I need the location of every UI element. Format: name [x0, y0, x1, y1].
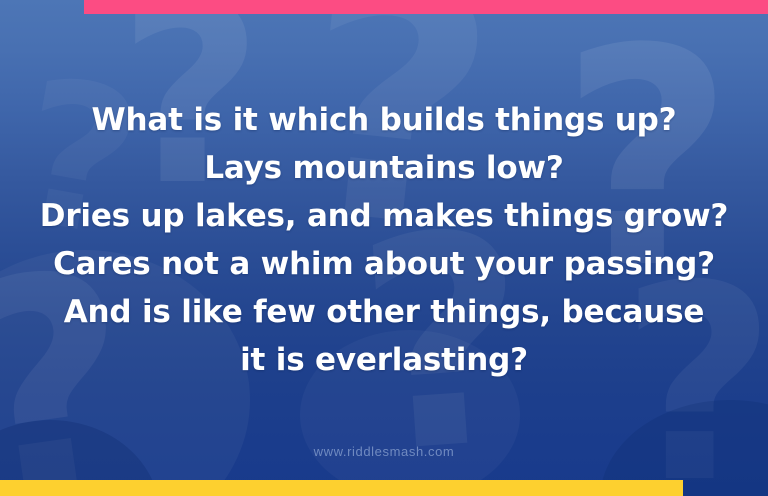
riddle-poster: ? ? ? ? ? ? ? What is it which builds th… [0, 0, 768, 496]
bottom-accent-bar [0, 480, 683, 496]
riddle-line: And is like few other things, because [26, 288, 742, 336]
riddle-line: Dries up lakes, and makes things grow? [26, 192, 742, 240]
riddle-line: What is it which builds things up? [26, 96, 742, 144]
riddle-line: Lays mountains low? [26, 144, 742, 192]
top-accent-bar [84, 0, 768, 14]
watermark-url: www.riddlesmash.com [0, 444, 768, 459]
riddle-line: it is everlasting? [26, 336, 742, 384]
riddle-line: Cares not a whim about your passing? [26, 240, 742, 288]
riddle-text-block: What is it which builds things up? Lays … [0, 96, 768, 384]
